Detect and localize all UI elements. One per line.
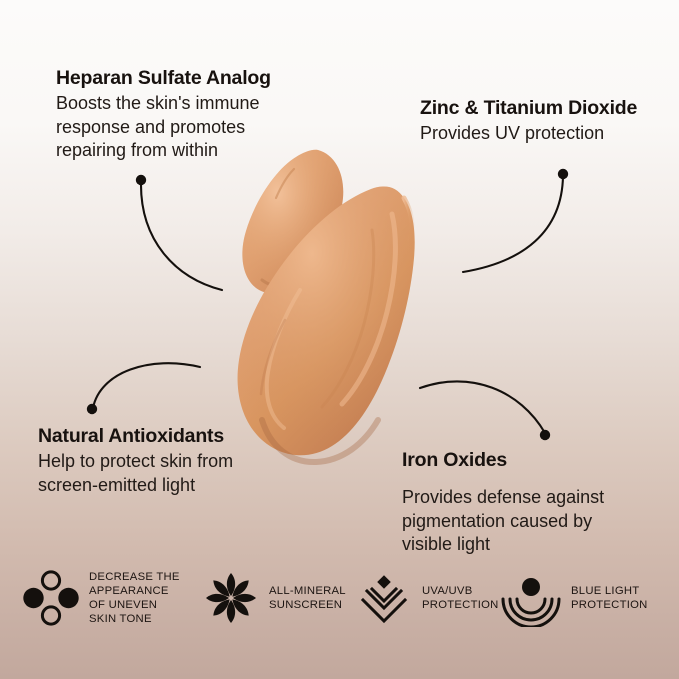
chevrons-down-icon — [355, 569, 413, 627]
connector-dot-natural — [87, 404, 97, 414]
callout-title: Zinc & Titanium Dioxide — [420, 96, 670, 120]
four-circles-icon — [22, 569, 80, 627]
connector-heparan — [141, 182, 222, 290]
connector-dot-heparan — [136, 175, 146, 185]
callout-body: Help to protect skin from screen-emitted… — [38, 450, 308, 497]
benefit-blue-light-protection: BLUE LIGHT PROTECTION — [500, 569, 648, 627]
radiating-arcs-icon — [500, 569, 562, 627]
callout-title: Natural Antioxidants — [38, 424, 308, 448]
connector-zinc — [463, 176, 563, 272]
benefit-label: BLUE LIGHT PROTECTION — [571, 584, 648, 612]
benefit-uva-uvb-protection: UVA/UVB PROTECTION — [355, 569, 500, 627]
callout-zinc-titanium-dioxide: Zinc & Titanium Dioxide Provides UV prot… — [420, 96, 670, 146]
callout-heparan-sulfate-analog: Heparan Sulfate Analog Boosts the skin's… — [56, 66, 356, 162]
benefit-all-mineral-sunscreen: ALL-MINERAL SUNSCREEN — [202, 569, 355, 627]
callout-iron-oxides: Iron Oxides Provides defense against pig… — [402, 448, 652, 556]
connector-iron — [420, 381, 545, 433]
benefits-row: DECREASE THE APPEARANCE OF UNEVEN SKIN T… — [0, 557, 679, 639]
callout-body: Provides defense against pigmentation ca… — [402, 486, 652, 556]
product-benefits-infographic: Heparan Sulfate Analog Boosts the skin's… — [0, 0, 679, 679]
callout-natural-antioxidants: Natural Antioxidants Help to protect ski… — [38, 424, 308, 497]
connector-dot-zinc — [558, 169, 568, 179]
benefit-label: ALL-MINERAL SUNSCREEN — [269, 584, 346, 612]
callout-title: Iron Oxides — [402, 448, 652, 472]
benefit-decrease-uneven-skin-tone: DECREASE THE APPEARANCE OF UNEVEN SKIN T… — [22, 569, 202, 627]
benefit-label: DECREASE THE APPEARANCE OF UNEVEN SKIN T… — [89, 570, 180, 626]
flower-petals-icon — [202, 569, 260, 627]
connector-dot-iron — [540, 430, 550, 440]
callout-title: Heparan Sulfate Analog — [56, 66, 356, 90]
callout-body: Boosts the skin's immune response and pr… — [56, 92, 356, 162]
benefit-label: UVA/UVB PROTECTION — [422, 584, 499, 612]
callout-body: Provides UV protection — [420, 122, 670, 145]
connector-natural — [93, 363, 200, 408]
